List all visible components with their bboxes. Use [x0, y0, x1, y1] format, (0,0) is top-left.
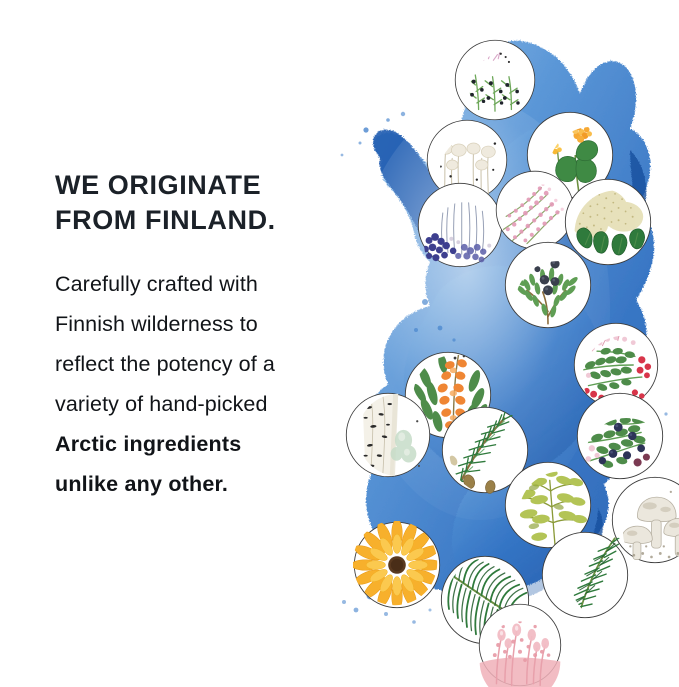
page-title: WE ORIGINATE FROM FINLAND.: [55, 168, 355, 238]
body-copy: Carefully crafted with Finnish wildernes…: [55, 264, 355, 504]
finland-map-illustration: [330, 10, 679, 679]
ingredient-circle-birch-bark[interactable]: [345, 392, 431, 478]
ingredient-circle-rosebay-willow[interactable]: [478, 603, 562, 687]
text-column: WE ORIGINATE FROM FINLAND. Carefully cra…: [55, 168, 355, 504]
ingredient-circle-crowberry[interactable]: [454, 39, 536, 121]
body-line-5: Arctic ingredients: [55, 424, 355, 464]
body-line-4: variety of hand-picked: [55, 384, 355, 424]
body-line-3: reflect the potency of a: [55, 344, 355, 384]
body-line-6: unlike any other.: [55, 464, 355, 504]
body-line-2: Finnish wilderness to: [55, 304, 355, 344]
ingredient-circle-calendula[interactable]: [353, 521, 441, 609]
body-line-1: Carefully crafted with: [55, 264, 355, 304]
ingredient-circle-heather[interactable]: [495, 170, 575, 250]
poster-canvas: WE ORIGINATE FROM FINLAND. Carefully cra…: [0, 0, 679, 679]
ingredient-circle-juniper[interactable]: [504, 241, 592, 329]
ingredient-circle-bilberry-sprig[interactable]: [417, 182, 503, 268]
